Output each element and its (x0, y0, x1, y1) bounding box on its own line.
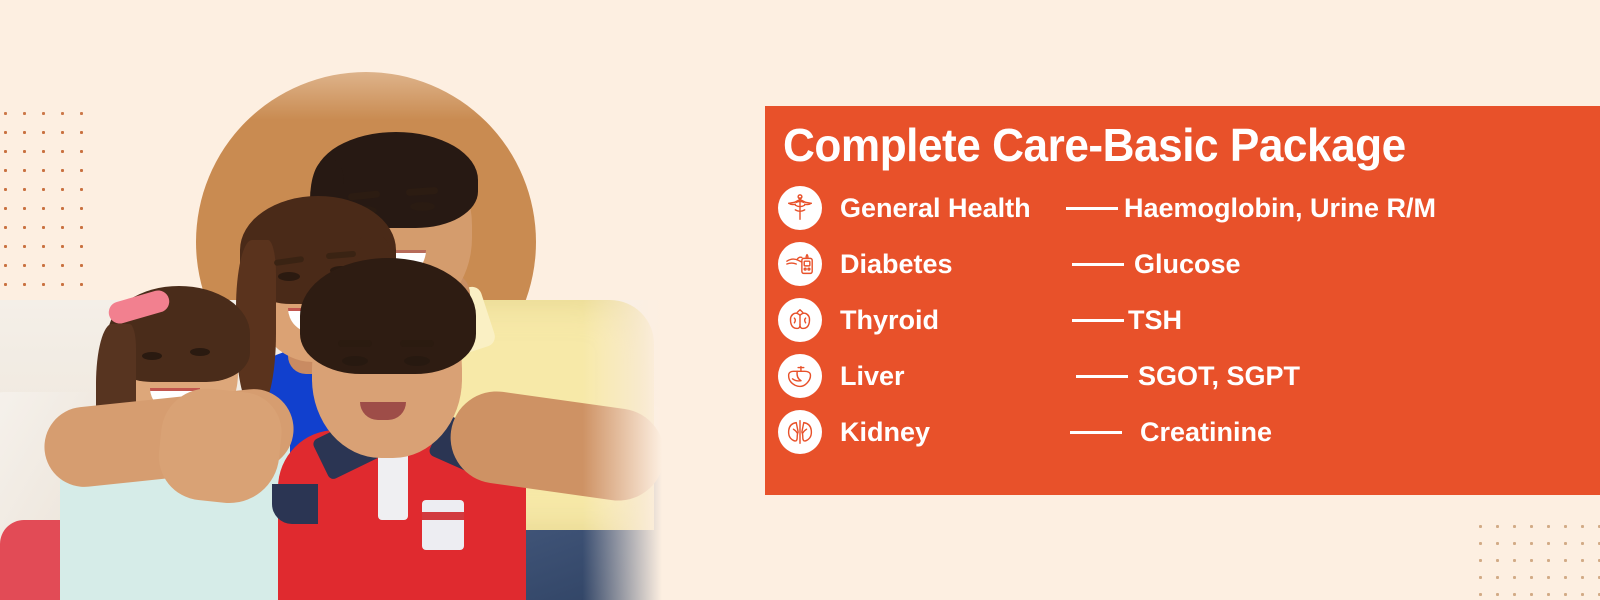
dot-grid-decoration-bottom-right (1472, 518, 1600, 600)
package-row-separator (1066, 207, 1118, 210)
package-row: Kidney Creatinine (775, 404, 1595, 460)
package-row-value: Haemoglobin, Urine R/M (1124, 193, 1436, 224)
package-row-separator (1072, 319, 1124, 322)
package-row-separator (1070, 431, 1122, 434)
son-hair (300, 258, 476, 374)
family-photo (0, 0, 662, 600)
package-row-label: Liver (840, 361, 1072, 392)
package-row-label: Kidney (840, 417, 1072, 448)
package-row-value: SGOT, SGPT (1138, 361, 1300, 392)
mother-eye-left (278, 272, 300, 281)
father-eye-right (410, 202, 435, 211)
son-eye-left (342, 356, 368, 366)
package-row-separator (1076, 375, 1128, 378)
daughter-eye-right (190, 348, 210, 356)
thyroid-icon (778, 298, 822, 342)
son-eyebrow-right (400, 340, 434, 347)
liver-icon (778, 354, 822, 398)
son-eye-right (404, 356, 430, 366)
daughter-eye-left (142, 352, 162, 360)
son-eyebrow-left (338, 340, 372, 347)
package-row-label: Thyroid (840, 305, 1072, 336)
package-row-separator (1072, 263, 1124, 266)
package-row-value: Glucose (1134, 249, 1241, 280)
health-package-banner: Complete Care-Basic Package (0, 0, 1600, 600)
package-test-list: General Health Haemoglobin, Urine R/M (775, 180, 1595, 460)
son-chest-badge-stripe (422, 512, 464, 520)
package-row: Diabetes Glucose (775, 236, 1595, 292)
son-sleeve-left (272, 484, 318, 524)
son-chest-badge (422, 500, 464, 550)
package-row-value: Creatinine (1140, 417, 1272, 448)
glucometer-icon (778, 242, 822, 286)
package-row: Thyroid TSH (775, 292, 1595, 348)
package-panel: Complete Care-Basic Package (765, 106, 1600, 495)
kidney-icon (778, 410, 822, 454)
caduceus-icon (778, 186, 822, 230)
package-row: General Health Haemoglobin, Urine R/M (775, 180, 1595, 236)
package-title: Complete Care-Basic Package (783, 118, 1406, 172)
package-row-value: TSH (1128, 305, 1182, 336)
package-row-label: General Health (840, 193, 1072, 224)
package-row: Liver SGOT, SGPT (775, 348, 1595, 404)
package-row-label: Diabetes (840, 249, 1072, 280)
